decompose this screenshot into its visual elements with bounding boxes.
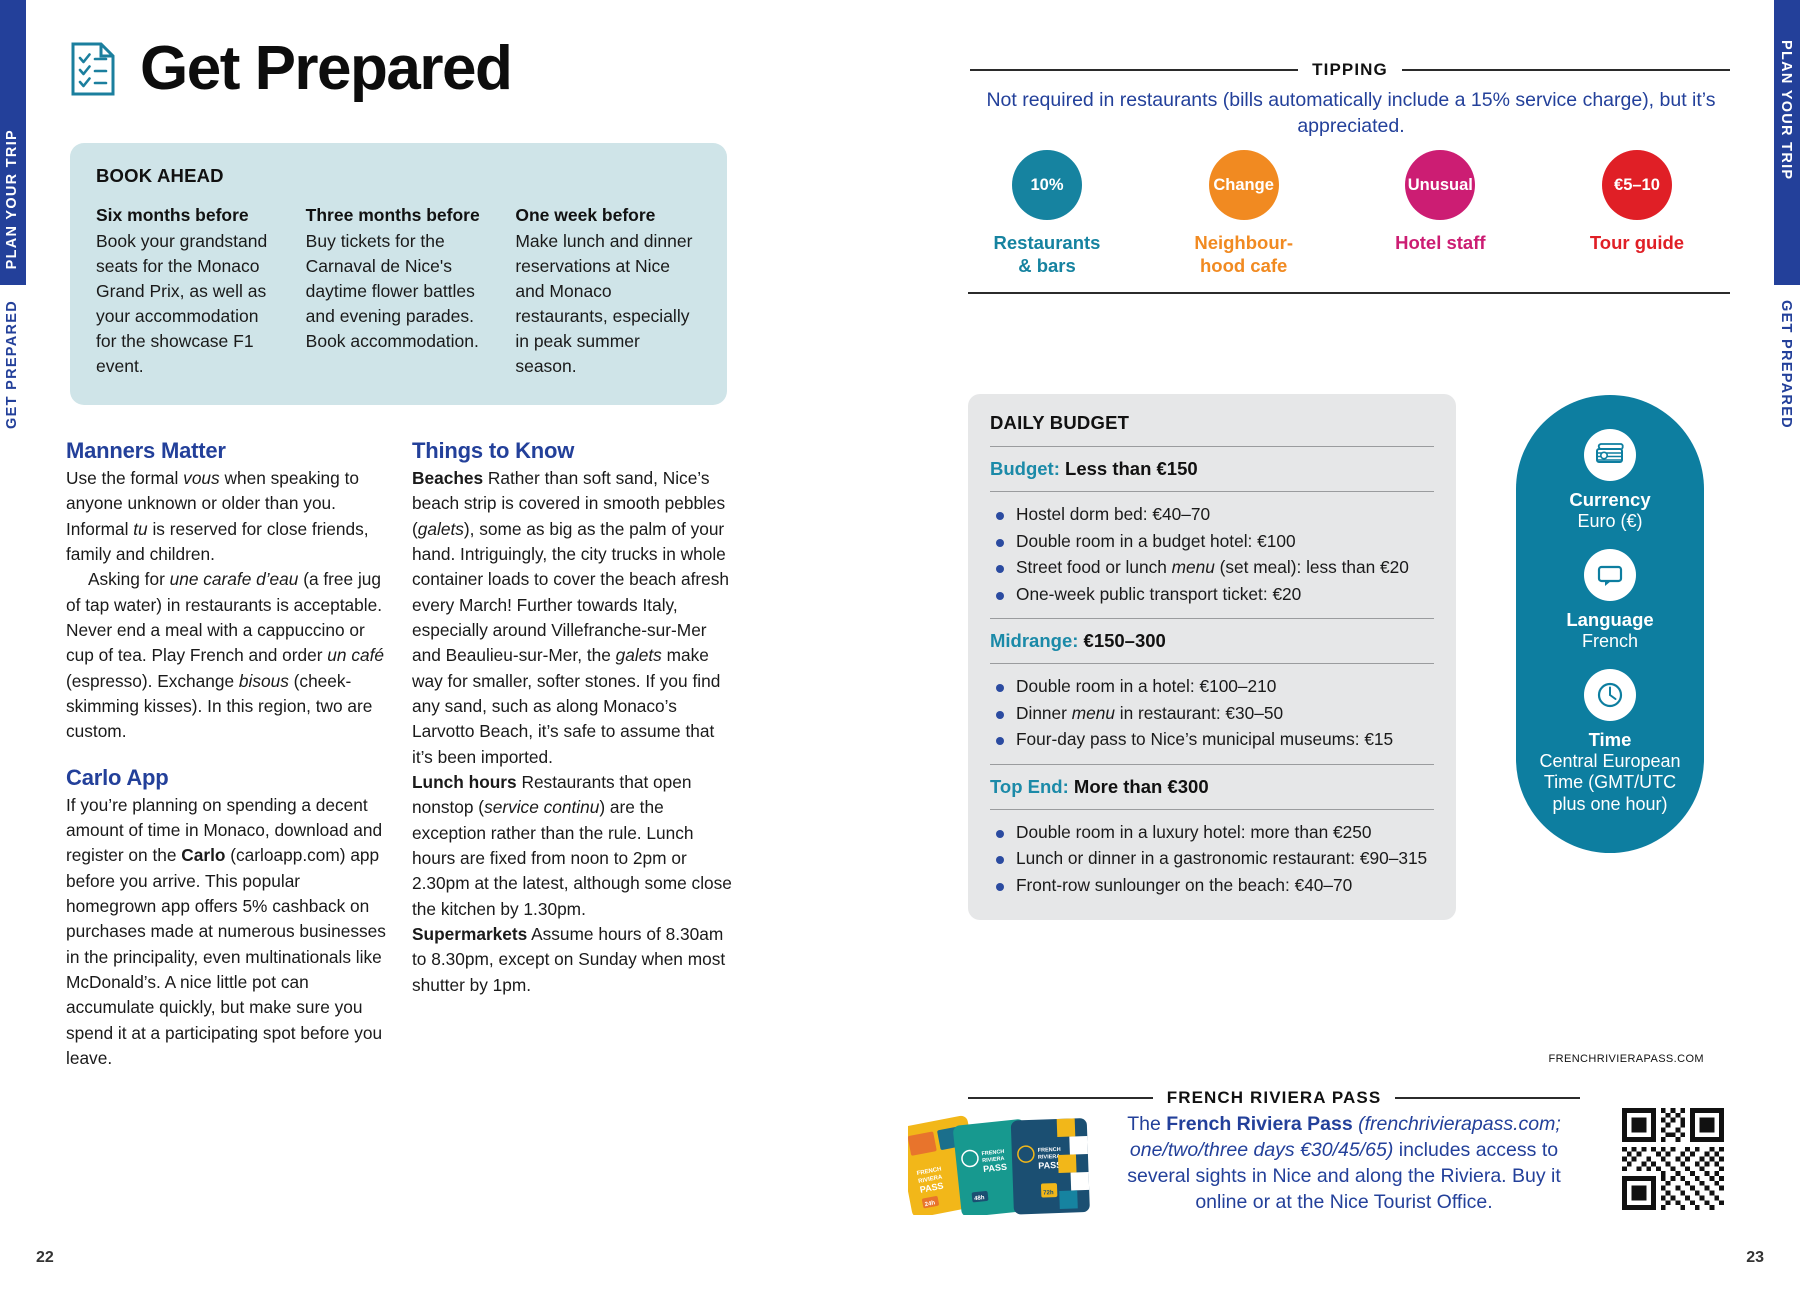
french-riviera-pass-heading: FRENCH RIVIERA PASS: [1167, 1088, 1382, 1108]
book-ahead-item: Three months before Buy tickets for the …: [306, 205, 492, 379]
svg-text:48h: 48h: [974, 1195, 985, 1202]
budget-tier-range: More than €300: [1074, 776, 1209, 797]
french-riviera-pass-url-caption: FRENCHRIVIERAPASS.COM: [1549, 1053, 1705, 1065]
carlo-app-heading: Carlo App: [66, 765, 388, 791]
lunch-hours-paragraph: Lunch hours Restaurants that open nonsto…: [412, 770, 734, 922]
page-title: Get Prepared: [140, 38, 511, 100]
rule-line-right: [1402, 69, 1730, 71]
budget-list-item: Dinner menu in restaurant: €30–50: [990, 702, 1434, 726]
book-ahead-item-head: One week before: [515, 205, 701, 226]
manners-matter-heading: Manners Matter: [66, 438, 388, 464]
budget-list-item: Front-row sunlounger on the beach: €40–7…: [990, 874, 1434, 898]
tipping-label: Neighbour- hood cafe: [1159, 232, 1329, 277]
page-gutter: [899, 0, 901, 1299]
manners-paragraph-1: Use the formal vous when speaking to any…: [66, 466, 388, 567]
divider: [990, 764, 1434, 765]
qr-code[interactable]: [1622, 1108, 1724, 1210]
tipping-label: Tour guide: [1552, 232, 1722, 255]
quick-fact-time: Time Central European Time (GMT/UTC plus…: [1516, 669, 1704, 816]
book-ahead-item-body: Make lunch and dinner reservations at Ni…: [515, 229, 701, 379]
svg-text:72h: 72h: [1043, 1190, 1054, 1196]
quick-fact-value: French: [1516, 631, 1704, 653]
page-title-row: Get Prepared: [70, 38, 511, 100]
budget-tier-heading: Budget: Less than €150: [990, 458, 1434, 480]
divider: [990, 618, 1434, 619]
tipping-item: Unusual Hotel staff: [1355, 150, 1525, 277]
banknotes-icon: [1584, 429, 1636, 481]
tipping-bubble: 10%: [1012, 150, 1082, 220]
budget-list-item: One-week public transport ticket: €20: [990, 583, 1434, 607]
book-ahead-columns: Six months before Book your grandstand s…: [96, 205, 701, 379]
tipping-label-line1: Hotel staff: [1395, 232, 1485, 253]
budget-tier-heading: Midrange: €150–300: [990, 630, 1434, 652]
tipping-bubble: €5–10: [1602, 150, 1672, 220]
svg-text:FRENCH: FRENCH: [1038, 1147, 1061, 1154]
manners-paragraph-2: Asking for une carafe d’eau (a free jug …: [66, 567, 388, 744]
budget-tier-heading: Top End: More than €300: [990, 776, 1434, 798]
french-riviera-pass-text: The French Riviera Pass (frenchrivierapa…: [1110, 1112, 1578, 1216]
budget-tier-name: Budget:: [990, 458, 1060, 479]
budget-tier-range: Less than €150: [1065, 458, 1198, 479]
budget-list-item: Double room in a budget hotel: €100: [990, 530, 1434, 554]
rule-line-left: [970, 69, 1298, 71]
tipping-item: Change Neighbour- hood cafe: [1159, 150, 1329, 277]
budget-list-item: Hostel dorm bed: €40–70: [990, 503, 1434, 527]
book-ahead-item: One week before Make lunch and dinner re…: [515, 205, 701, 379]
quick-fact-label: Currency: [1516, 489, 1704, 511]
body-text-columns: Manners Matter Use the formal vous when …: [66, 438, 734, 1071]
tipping-items: 10% Restaurants & bars Change Neighbour-…: [962, 150, 1722, 277]
budget-tier-range: €150–300: [1084, 630, 1166, 651]
divider: [990, 663, 1434, 664]
tipping-bubble: Unusual: [1405, 150, 1475, 220]
book-ahead-item-head: Six months before: [96, 205, 282, 226]
budget-list-item: Double room in a hotel: €100–210: [990, 675, 1434, 699]
tipping-label: Hotel staff: [1355, 232, 1525, 255]
left-tab-get-prepared: GET PREPARED: [4, 300, 20, 429]
quick-facts-pill: Currency Euro (€) Language French Time C…: [1516, 395, 1704, 853]
left-tab-plan-your-trip: PLAN YOUR TRIP: [4, 129, 20, 269]
book-ahead-panel: BOOK AHEAD Six months before Book your g…: [70, 143, 727, 405]
budget-tier-list: Hostel dorm bed: €40–70 Double room in a…: [990, 503, 1434, 606]
budget-list-item: Lunch or dinner in a gastronomic restaur…: [990, 847, 1434, 871]
column-manners-and-carlo: Manners Matter Use the formal vous when …: [66, 438, 388, 1071]
clock-icon: [1584, 669, 1636, 721]
daily-budget-heading: DAILY BUDGET: [990, 412, 1434, 434]
book-ahead-item: Six months before Book your grandstand s…: [96, 205, 282, 379]
tipping-heading: TIPPING: [1312, 60, 1388, 80]
rule-line-right: [1395, 1097, 1580, 1099]
supermarkets-paragraph: Supermarkets Assume hours of 8.30am to 8…: [412, 922, 734, 998]
budget-tier-name: Midrange:: [990, 630, 1078, 651]
tipping-bottom-rule: [968, 292, 1730, 294]
tipping-section-header: TIPPING: [970, 60, 1730, 80]
tipping-label-line2: hood cafe: [1200, 255, 1287, 276]
right-edge-tab: PLAN YOUR TRIP GET PREPARED: [1774, 0, 1800, 1299]
left-edge-tab: PLAN YOUR TRIP GET PREPARED: [0, 0, 26, 1299]
tipping-intro-text: Not required in restaurants (bills autom…: [962, 88, 1740, 140]
budget-list-item: Street food or lunch menu (set meal): le…: [990, 556, 1434, 580]
divider: [990, 809, 1434, 810]
tipping-label-line1: Tour guide: [1590, 232, 1684, 253]
checklist-document-icon: [70, 41, 116, 97]
french-riviera-pass-cards: FRENCH RIVIERA PASS 24h FRENCH RIVIERA P…: [908, 1095, 1108, 1215]
tipping-label: Restaurants & bars: [962, 232, 1132, 277]
carlo-app-paragraph: If you’re planning on spending a decent …: [66, 793, 388, 1072]
tipping-label-line1: Restaurants: [994, 232, 1101, 253]
page-number-right: 23: [1746, 1249, 1764, 1267]
right-tab-plan-your-trip: PLAN YOUR TRIP: [1778, 40, 1794, 180]
tipping-item: 10% Restaurants & bars: [962, 150, 1132, 277]
budget-tier-name: Top End:: [990, 776, 1069, 797]
quick-fact-label: Language: [1516, 609, 1704, 631]
divider: [990, 446, 1434, 447]
things-to-know-heading: Things to Know: [412, 438, 734, 464]
book-ahead-item-head: Three months before: [306, 205, 492, 226]
book-ahead-heading: BOOK AHEAD: [96, 165, 701, 187]
speech-bubble-icon: [1584, 549, 1636, 601]
budget-tier-list: Double room in a luxury hotel: more than…: [990, 821, 1434, 898]
tipping-label-line2: & bars: [1018, 255, 1076, 276]
quick-fact-value: Central European Time (GMT/UTC plus one …: [1516, 751, 1704, 816]
quick-fact-currency: Currency Euro (€): [1516, 429, 1704, 533]
beaches-paragraph: Beaches Rather than soft sand, Nice’s be…: [412, 466, 734, 770]
divider: [990, 491, 1434, 492]
page-number-left: 22: [36, 1249, 54, 1267]
quick-fact-language: Language French: [1516, 549, 1704, 653]
quick-fact-label: Time: [1516, 729, 1704, 751]
tipping-bubble: Change: [1209, 150, 1279, 220]
budget-list-item: Four-day pass to Nice’s municipal museum…: [990, 728, 1434, 752]
budget-tier-list: Double room in a hotel: €100–210 Dinner …: [990, 675, 1434, 752]
column-things-to-know: Things to Know Beaches Rather than soft …: [412, 438, 734, 1071]
daily-budget-panel: DAILY BUDGET Budget: Less than €150 Host…: [968, 394, 1456, 920]
tipping-label-line1: Neighbour-: [1194, 232, 1293, 253]
right-tab-get-prepared: GET PREPARED: [1778, 300, 1794, 429]
quick-fact-value: Euro (€): [1516, 511, 1704, 533]
tipping-item: €5–10 Tour guide: [1552, 150, 1722, 277]
book-ahead-item-body: Buy tickets for the Carnaval de Nice's d…: [306, 229, 492, 354]
book-ahead-item-body: Book your grandstand seats for the Monac…: [96, 229, 282, 379]
budget-list-item: Double room in a luxury hotel: more than…: [990, 821, 1434, 845]
